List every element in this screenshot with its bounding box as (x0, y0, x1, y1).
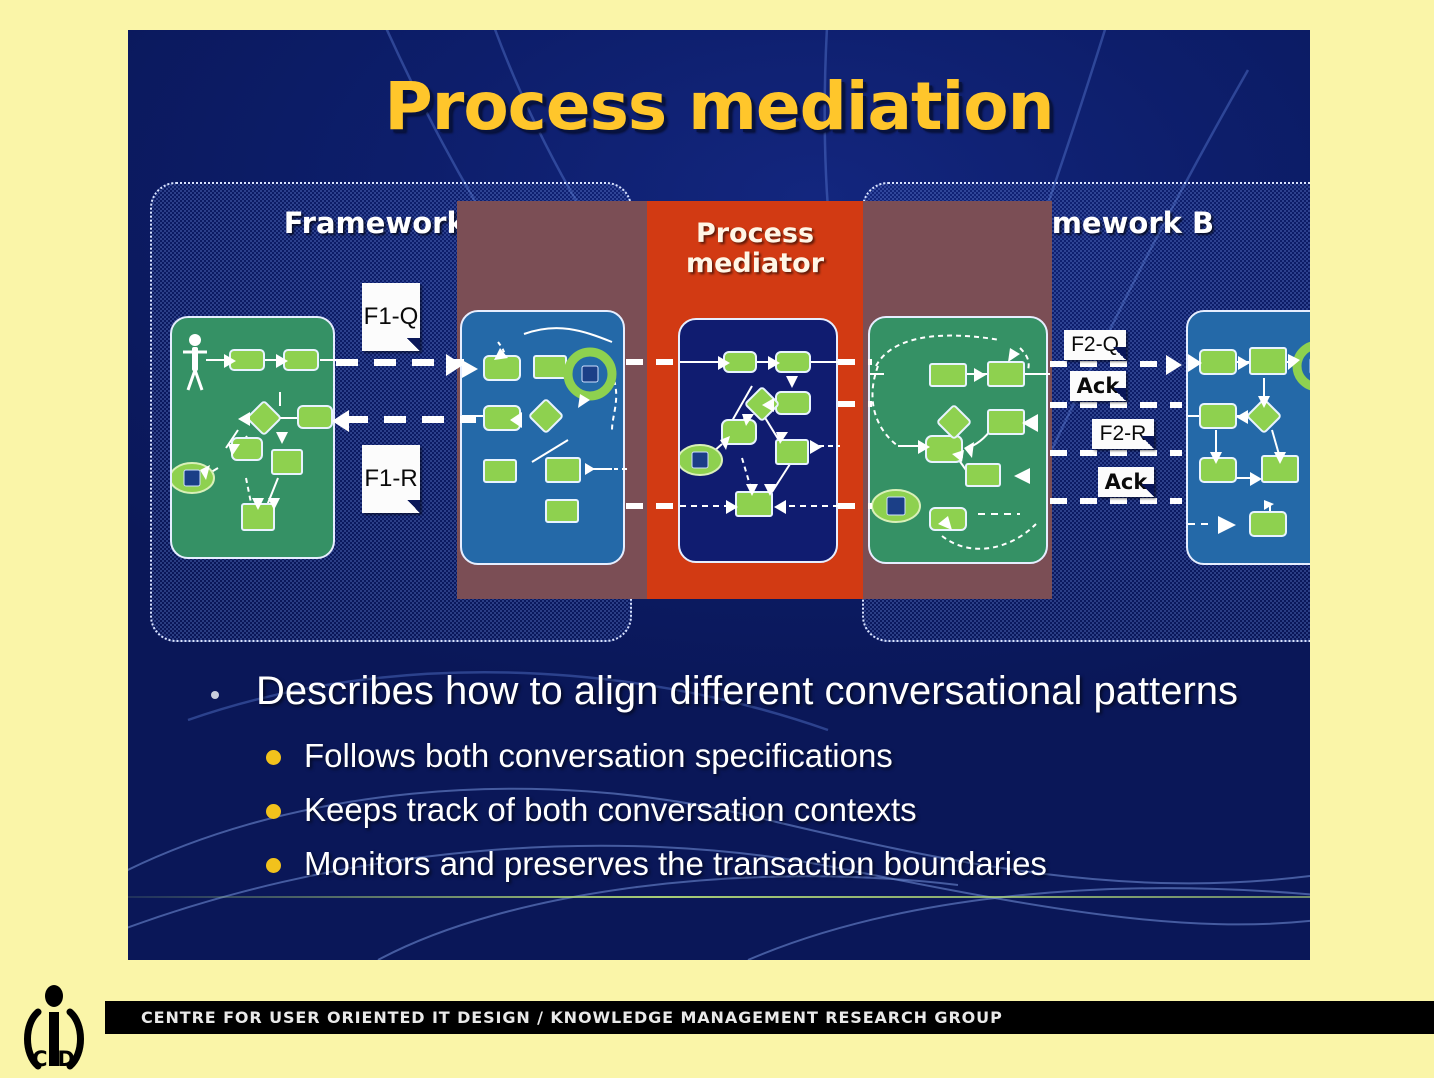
content-divider (128, 896, 1310, 898)
sub-bullet-3-text: Monitors and preserves the transaction b… (304, 845, 1047, 882)
doc-fold-icon (407, 338, 420, 351)
document-label-f1-r: F1-R (362, 445, 420, 513)
framework-b-blue-graph (1188, 312, 1310, 567)
database-icon-b (872, 490, 920, 522)
framework-a-green-graph (172, 318, 337, 561)
doc-fold-icon (1113, 388, 1126, 401)
footer-bar: CENTRE FOR USER ORIENTED IT DESIGN / KNO… (105, 1001, 1434, 1034)
bullet-main-text: Describes how to align different convers… (256, 669, 1238, 713)
flow-ack1-line (1050, 402, 1182, 408)
footer-text: CENTRE FOR USER ORIENTED IT DESIGN / KNO… (105, 1008, 1003, 1027)
flow-mediator-to-b-2 (838, 401, 872, 407)
doc-fold-icon (1141, 436, 1154, 449)
document-label-ack-1: Ack (1070, 371, 1126, 401)
actor-icon (183, 334, 207, 390)
framework-a-blue-process-box (460, 310, 625, 565)
bullet-dot-icon (211, 691, 219, 699)
database-circle-icon-b (1297, 345, 1310, 387)
slide-canvas: Process mediation Framework A Framework … (128, 30, 1310, 960)
flow-mediator-to-b-1 (838, 359, 872, 365)
flow-a-to-mediator-2 (626, 503, 680, 509)
bullet-main: Describes how to align different convers… (156, 670, 1296, 713)
sub-bullet-dot-icon (266, 804, 281, 819)
mediator-label-line1: Process (696, 218, 814, 249)
database-circle-icon (568, 352, 612, 396)
flow-mediator-to-b-3 (838, 503, 872, 509)
bullet-list: Describes how to align different convers… (156, 670, 1296, 901)
page-title: Process mediation (128, 68, 1310, 145)
doc-fold-icon (1113, 347, 1126, 360)
flow-f1-r-line (346, 416, 476, 423)
mediator-database-icon (680, 445, 722, 475)
framework-b-green-graph (870, 318, 1050, 566)
sub-bullet-3: Monitors and preserves the transaction b… (156, 847, 1296, 880)
sub-bullet-1: Follows both conversation specifications (156, 739, 1296, 772)
document-label-f2-r: F2-R (1092, 419, 1154, 449)
framework-a-blue-graph (462, 312, 627, 567)
framework-b-blue-process-box (1186, 310, 1310, 565)
document-label-ack-2: Ack (1098, 467, 1154, 497)
doc-fold-icon (1141, 484, 1154, 497)
sub-bullet-dot-icon (266, 858, 281, 873)
mediator-label-line2: mediator (686, 248, 824, 279)
process-mediation-diagram: Framework A Framework B Process mediator (150, 173, 1310, 663)
mediator-graph (680, 320, 840, 565)
process-mediator-label: Process mediator (647, 219, 863, 279)
sub-bullet-list: Follows both conversation specifications… (156, 739, 1296, 880)
flow-f1-q-line (336, 359, 464, 366)
document-label-f1-q: F1-Q (362, 283, 420, 351)
flow-f2-r-line (1050, 450, 1182, 456)
flow-f2-q-arrow (1166, 355, 1182, 375)
sub-bullet-2: Keeps track of both conversation context… (156, 793, 1296, 826)
flow-f1-q-arrow (446, 354, 463, 376)
flow-f1-r-arrow (332, 410, 349, 432)
document-label-f2-q: F2-Q (1064, 330, 1126, 360)
flow-f2-q-line (1050, 361, 1172, 367)
framework-b-green-process-box (868, 316, 1048, 564)
cid-logo-text: CID (14, 1047, 94, 1071)
sub-bullet-1-text: Follows both conversation specifications (304, 737, 893, 774)
sub-bullet-dot-icon (266, 750, 281, 765)
doc-fold-icon (407, 500, 420, 513)
flow-a-to-mediator-1 (626, 359, 680, 365)
framework-a-green-process-box (170, 316, 335, 559)
sub-bullet-2-text: Keeps track of both conversation context… (304, 791, 917, 828)
flow-ack2-line (1050, 498, 1182, 504)
mediator-process-box (678, 318, 838, 563)
